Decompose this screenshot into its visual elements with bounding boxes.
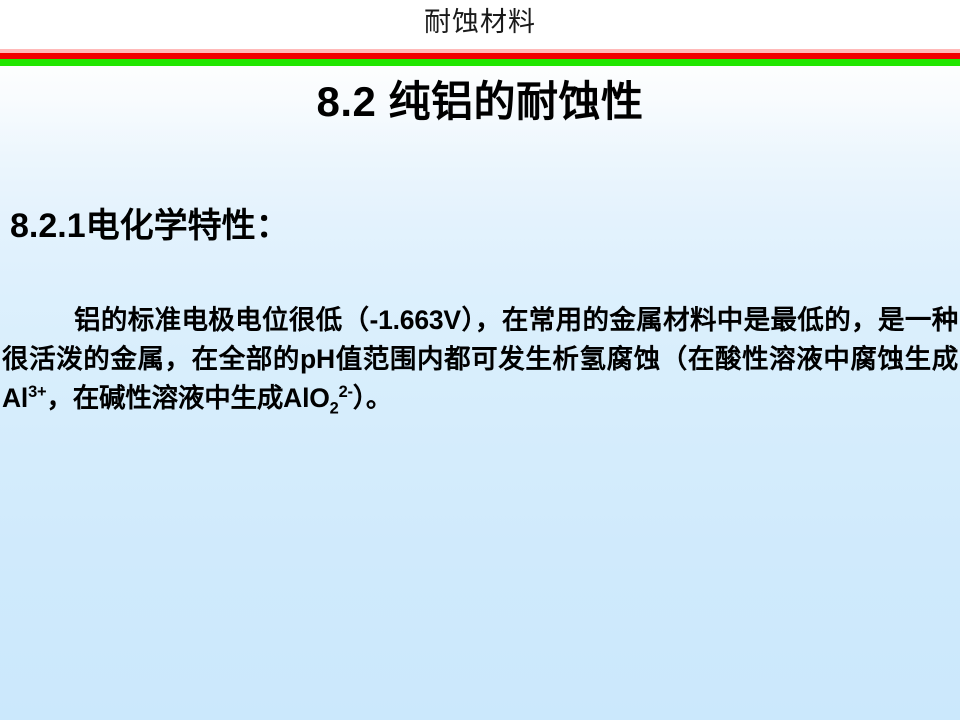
body-paragraph: 铝的标准电极电位很低（-1.663V），在常用的金属材料中是最低的，是一种很活泼… — [2, 301, 958, 418]
header-title: 耐蚀材料 — [424, 9, 536, 36]
page-title: 8.2 纯铝的耐蚀性 — [0, 78, 960, 126]
slide-body: 8.2 纯铝的耐蚀性 8.2.1电化学特性： 铝的标准电极电位很低（-1.663… — [0, 66, 960, 720]
paragraph-segment-2: ，在碱性溶液中生成AlO — [46, 383, 329, 413]
slide-header: 耐蚀材料 — [0, 0, 960, 44]
divider-line-green — [0, 59, 960, 66]
header-divider — [0, 44, 960, 66]
section-heading: 8.2.1电化学特性： — [10, 206, 290, 247]
paragraph-segment-3: ）。 — [353, 383, 392, 413]
charge-superscript-aluminium: 3+ — [28, 383, 46, 401]
count-subscript-oxygen: 2 — [330, 399, 339, 417]
charge-superscript-aluminate: 2- — [339, 383, 353, 401]
slide-canvas: 耐蚀材料 8.2 纯铝的耐蚀性 8.2.1电化学特性： 铝的标准电极电位很低（-… — [0, 0, 960, 720]
